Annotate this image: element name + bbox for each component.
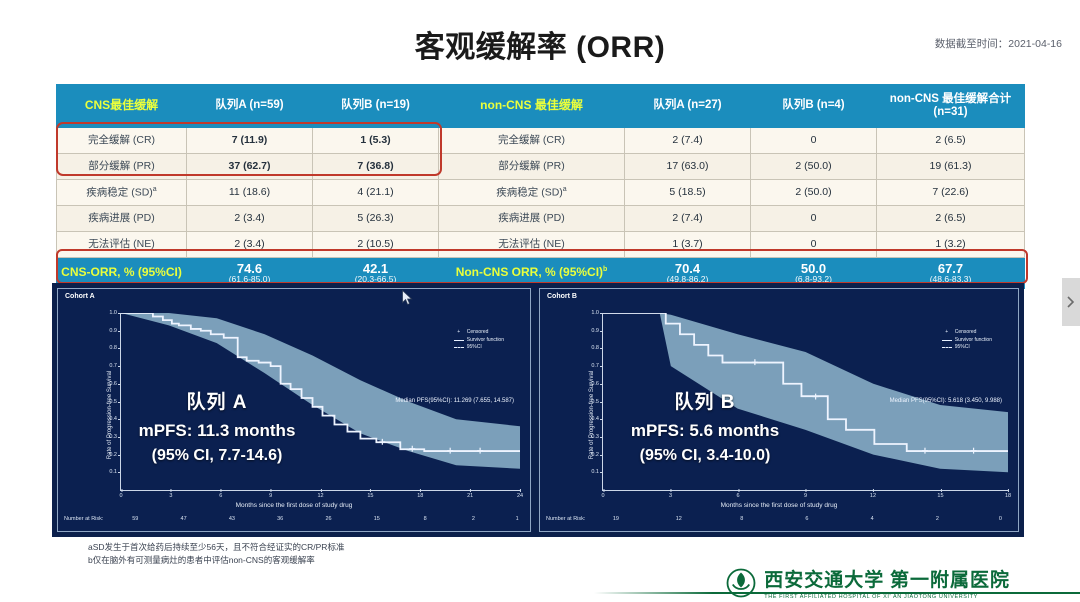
number-at-risk-a: Number at Risk: 59 47 43 36 26 15 8 2 1 [64, 516, 524, 526]
number-at-risk-b: Number at Risk: 19 12 8 6 4 2 0 [546, 516, 1012, 526]
x-axis-label: Months since the first dose of study dru… [540, 502, 1018, 509]
x-tick: 15 [367, 493, 373, 499]
cohort-a-headline: 队列 A [92, 387, 342, 414]
cell-noncns-a: 5 (18.5) [625, 180, 751, 206]
risk-value: 8 [740, 516, 743, 522]
hospital-name-block: 西安交通大学 第一附属医院 THE FIRST AFFILIATED HOSPI… [764, 565, 1010, 600]
cell-cns-a: 37 (62.7) [187, 154, 313, 180]
risk-value: 2 [472, 516, 475, 522]
risk-value: 8 [424, 516, 427, 522]
risk-value: 19 [613, 516, 619, 522]
cell-cns-label: 无法评估 (NE) [57, 232, 187, 258]
orr-table-wrapper: CNS最佳缓解 队列A (n=59) 队列B (n=19) non-CNS 最佳… [56, 84, 1024, 289]
y-tick: 0.1 [591, 469, 599, 475]
table-row: 无法评估 (NE) 2 (3.4) 2 (10.5) 无法评估 (NE) 1 (… [57, 232, 1025, 258]
risk-value: 1 [516, 516, 519, 522]
legend-item-survivor: Survivor function [942, 337, 992, 345]
legend-label: 95%CI [467, 344, 482, 352]
cell-noncns-a: 1 (3.7) [625, 232, 751, 258]
risk-value: 12 [676, 516, 682, 522]
cohort-a-tag: Cohort A [65, 293, 95, 300]
legend-item-censored: +Censored [454, 329, 504, 337]
y-tick: 0.6 [591, 381, 599, 387]
cohort-b-ci: (95% CI, 3.4-10.0) [580, 447, 830, 465]
cell-noncns-total: 2 (6.5) [877, 128, 1025, 154]
risk-value: 36 [277, 516, 283, 522]
risk-label: Number at Risk: [64, 516, 103, 522]
chart-legend-a: +Censored Survivor function 95%CI [454, 329, 504, 352]
x-tick: 12 [317, 493, 323, 499]
chevron-right-icon [1067, 296, 1075, 308]
data-cutoff-date: 数据截至时间：2021-04-16 [935, 36, 1062, 51]
orr-table: CNS最佳缓解 队列A (n=59) 队列B (n=19) non-CNS 最佳… [56, 84, 1025, 289]
cell-noncns-b: 2 (50.0) [751, 180, 877, 206]
table-row: 疾病稳定 (SD)a 11 (18.6) 4 (21.1) 疾病稳定 (SD)a… [57, 180, 1025, 206]
value: 67.7 [877, 262, 1024, 276]
legend-item-ci: 95%CI [454, 344, 504, 352]
cell-noncns-b: 2 (50.0) [751, 154, 877, 180]
cohort-a-callout: 队列 A mPFS: 11.3 months (95% CI, 7.7-14.6… [92, 387, 342, 465]
y-tick: 0.7 [109, 363, 117, 369]
y-tick: 1.0 [591, 310, 599, 316]
risk-value: 4 [871, 516, 874, 522]
ci-swatch-icon [454, 347, 464, 348]
legend-label: Survivor function [955, 337, 992, 345]
table-row: 部分缓解 (PR) 37 (62.7) 7 (36.8) 部分缓解 (PR) 1… [57, 154, 1025, 180]
next-slide-button[interactable] [1062, 278, 1080, 326]
th-noncns-cohort-b: 队列B (n=4) [751, 85, 877, 128]
ci-swatch-icon [942, 347, 952, 348]
line-swatch-icon [942, 340, 952, 341]
cell-cns-label: 疾病稳定 (SD)a [57, 180, 187, 206]
mouse-cursor [402, 290, 413, 306]
x-tick: 24 [517, 493, 523, 499]
th-noncns-total: non-CNS 最佳缓解合计 (n=31) [877, 85, 1025, 128]
table-body: 完全缓解 (CR) 7 (11.9) 1 (5.3) 完全缓解 (CR) 2 (… [57, 128, 1025, 289]
cell-cns-b: 4 (21.1) [313, 180, 439, 206]
cell-cns-label: 部分缓解 (PR) [57, 154, 187, 180]
cell-cns-label: 疾病进展 (PD) [57, 206, 187, 232]
legend-label: 95%CI [955, 344, 970, 352]
x-axis-label: Months since the first dose of study dru… [58, 502, 530, 509]
footer: 西安交通大学 第一附属医院 THE FIRST AFFILIATED HOSPI… [0, 568, 1080, 602]
cell-noncns-total: 1 (3.2) [877, 232, 1025, 258]
hospital-logo-icon [726, 568, 756, 598]
median-pfs-annotation-a: Median PFS(95%CI): 11.269 (7.655, 14.587… [395, 398, 514, 404]
y-tick: 1.0 [109, 310, 117, 316]
cell-cns-a: 2 (3.4) [187, 232, 313, 258]
risk-value: 0 [999, 516, 1002, 522]
x-tick: 21 [467, 493, 473, 499]
cohort-a-ci: (95% CI, 7.7-14.6) [92, 447, 342, 465]
footnote-b: b仅在脑外有可测量病灶的患者中评估non-CNS的客观缓解率 [88, 554, 344, 567]
cell-cns-b: 2 (10.5) [313, 232, 439, 258]
cell-cns-b: 5 (26.3) [313, 206, 439, 232]
x-tick: 18 [1005, 493, 1011, 499]
km-charts-panel: Cohort A Rate of Progression-free Surviv… [52, 283, 1024, 537]
page-title: 客观缓解率 (ORR) [0, 22, 1080, 66]
risk-value: 6 [805, 516, 808, 522]
x-tick: 12 [870, 493, 876, 499]
y-tick: 0.8 [109, 345, 117, 351]
cell-noncns-total: 2 (6.5) [877, 206, 1025, 232]
th-cns-cohort-b: 队列B (n=19) [313, 85, 439, 128]
cohort-b-tag: Cohort B [547, 293, 577, 300]
x-tick: 6 [219, 493, 222, 499]
th-noncns-best-response: non-CNS 最佳缓解 [439, 85, 625, 128]
cohort-b-callout: 队列 B mPFS: 5.6 months (95% CI, 3.4-10.0) [580, 387, 830, 465]
slide-root: 客观缓解率 (ORR) 数据截至时间：2021-04-16 CNS最佳缓解 队列… [0, 0, 1080, 602]
x-tick: 9 [269, 493, 272, 499]
y-tick: 0.7 [591, 363, 599, 369]
line-swatch-icon [454, 340, 464, 341]
risk-value: 26 [325, 516, 331, 522]
legend-item-survivor: Survivor function [454, 337, 504, 345]
risk-value: 47 [181, 516, 187, 522]
th-noncns-cohort-a: 队列A (n=27) [625, 85, 751, 128]
hospital-logo-block: 西安交通大学 第一附属医院 THE FIRST AFFILIATED HOSPI… [726, 565, 1010, 600]
cohort-a-mpfs: mPFS: 11.3 months [92, 421, 342, 441]
median-pfs-annotation-b: Median PFS(95%CI): 5.618 (3.450, 9.988) [890, 398, 1002, 404]
y-tick: 0.9 [109, 328, 117, 334]
th-cns-best-response: CNS最佳缓解 [57, 85, 187, 128]
cohort-b-mpfs: mPFS: 5.6 months [580, 421, 830, 441]
x-tick: 0 [119, 493, 122, 499]
x-tick: 3 [669, 493, 672, 499]
cell-noncns-a: 2 (7.4) [625, 206, 751, 232]
cell-noncns-total: 19 (61.3) [877, 154, 1025, 180]
hospital-name-en: THE FIRST AFFILIATED HOSPITAL OF XI' AN … [764, 594, 1010, 600]
cohort-b-headline: 队列 B [580, 387, 830, 414]
th-cns-cohort-a: 队列A (n=59) [187, 85, 313, 128]
x-tick: 6 [736, 493, 739, 499]
cell-cns-a: 11 (18.6) [187, 180, 313, 206]
table-header-row: CNS最佳缓解 队列A (n=59) 队列B (n=19) non-CNS 最佳… [57, 85, 1025, 128]
x-tick: 15 [937, 493, 943, 499]
footnotes: aSD发生于首次给药后持续至少56天，且不符合经证实的CR/PR标准 b仅在脑外… [88, 541, 344, 567]
legend-item-ci: 95%CI [942, 344, 992, 352]
footnote-a: aSD发生于首次给药后持续至少56天，且不符合经证实的CR/PR标准 [88, 541, 344, 554]
plus-icon: + [942, 329, 952, 337]
legend-label: Censored [955, 329, 977, 337]
x-tick: 3 [169, 493, 172, 499]
cell-cns-b: 1 (5.3) [313, 128, 439, 154]
cell-noncns-label: 部分缓解 (PR) [439, 154, 625, 180]
plus-icon: + [454, 329, 464, 337]
cell-noncns-b: 0 [751, 232, 877, 258]
x-tick: 0 [601, 493, 604, 499]
km-chart-cohort-b: Cohort B Rate of Progression-free Surviv… [539, 288, 1019, 532]
x-tick: 9 [804, 493, 807, 499]
cell-noncns-b: 0 [751, 206, 877, 232]
y-tick: 0.1 [109, 469, 117, 475]
value: 70.4 [625, 262, 750, 276]
x-tick: 18 [417, 493, 423, 499]
hospital-name-cn: 西安交通大学 第一附属医院 [764, 565, 1010, 592]
value: 50.0 [751, 262, 876, 276]
chart-legend-b: +Censored Survivor function 95%CI [942, 329, 992, 352]
cell-noncns-total: 7 (22.6) [877, 180, 1025, 206]
cell-noncns-label: 完全缓解 (CR) [439, 128, 625, 154]
cell-noncns-label: 疾病稳定 (SD)a [439, 180, 625, 206]
table-row: 完全缓解 (CR) 7 (11.9) 1 (5.3) 完全缓解 (CR) 2 (… [57, 128, 1025, 154]
value: 42.1 [313, 262, 438, 276]
legend-label: Censored [467, 329, 489, 337]
cell-noncns-a: 17 (63.0) [625, 154, 751, 180]
y-tick: 0.8 [591, 345, 599, 351]
cell-noncns-a: 2 (7.4) [625, 128, 751, 154]
cell-cns-a: 2 (3.4) [187, 206, 313, 232]
y-tick: 0.6 [109, 381, 117, 387]
cell-cns-b: 7 (36.8) [313, 154, 439, 180]
cell-cns-a: 7 (11.9) [187, 128, 313, 154]
y-tick: 0.9 [591, 328, 599, 334]
value: 74.6 [187, 262, 312, 276]
cell-cns-label: 完全缓解 (CR) [57, 128, 187, 154]
risk-label: Number at Risk: [546, 516, 585, 522]
risk-value: 15 [374, 516, 380, 522]
legend-label: Survivor function [467, 337, 504, 345]
risk-value: 43 [229, 516, 235, 522]
risk-value: 2 [936, 516, 939, 522]
cell-noncns-b: 0 [751, 128, 877, 154]
table-row: 疾病进展 (PD) 2 (3.4) 5 (26.3) 疾病进展 (PD) 2 (… [57, 206, 1025, 232]
km-chart-cohort-a: Cohort A Rate of Progression-free Surviv… [57, 288, 531, 532]
legend-item-censored: +Censored [942, 329, 992, 337]
cell-noncns-label: 无法评估 (NE) [439, 232, 625, 258]
risk-value: 59 [132, 516, 138, 522]
cell-noncns-label: 疾病进展 (PD) [439, 206, 625, 232]
